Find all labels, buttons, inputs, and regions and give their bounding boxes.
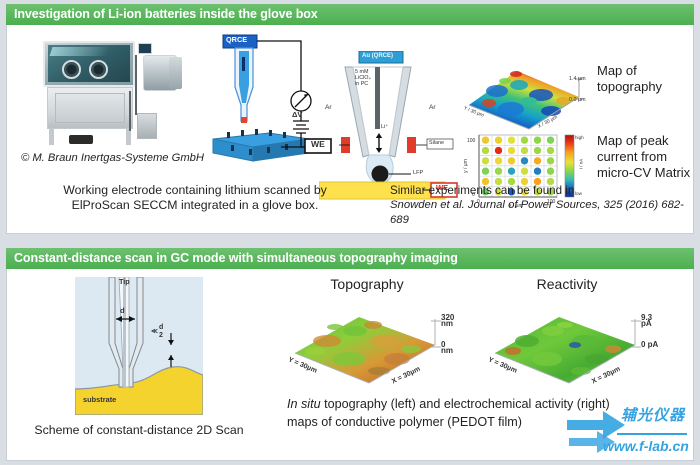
bottom-caption-line-1: In situ topography (left) and electroche… [287, 397, 610, 412]
cv-colorbar-low: low [575, 191, 582, 197]
cv-matrix-dot [495, 147, 503, 155]
qrce-label: QRCE [226, 37, 247, 43]
cv-matrix-dot [495, 136, 503, 144]
gap-prefix-label: ≪ [151, 329, 158, 335]
gap-denominator-label: 2 [159, 333, 163, 339]
delta-v-label: ΔV [292, 112, 302, 118]
cv-matrix-dot [482, 157, 490, 165]
cv-matrix-dot [495, 157, 503, 165]
bottom-caption-italic: In situ [287, 397, 321, 411]
watermark-chinese: 辅光仪器 [621, 404, 685, 425]
cv-matrix-dot [521, 136, 529, 144]
topomap-zmin: 0.0 µm [569, 97, 586, 103]
topography-map-title-2: topography [597, 79, 662, 95]
reactivity-3d-svg [489, 301, 659, 393]
seccm-svg [205, 29, 335, 179]
cv-colorbar-high: high [575, 135, 584, 141]
silane-label: Silane [429, 140, 444, 146]
seccm-schematic: QRCE ΔV WE [205, 29, 335, 179]
au-qrce-label: Au (QRCE) [362, 53, 393, 59]
cv-matrix-dot [547, 136, 555, 144]
cv-matrix-dot [521, 147, 529, 155]
reactivity-plot-title: Reactivity [497, 277, 637, 292]
ar-label-right: Ar [429, 105, 436, 111]
photo-credit: © M. Braun Inertgas-Systeme GmbH [21, 151, 204, 166]
cv-matrix-dot [547, 147, 555, 155]
licell-svg [319, 51, 459, 203]
reactivity-zmin: 0 pA [641, 342, 658, 348]
topography-surface-map: 1.4 µm 0.0 µm Y / 30 µm X / 30 µm [459, 57, 589, 135]
watermark-url: www.f-lab.cn [603, 438, 689, 454]
topography-zmax: 320 nm [441, 315, 459, 327]
watermark: 辅光仪器 www.f-lab.cn [563, 398, 691, 460]
tip-scheme-caption: Scheme of constant-distance 2D Scan [13, 423, 265, 438]
li-ion-label: Li⁺ [381, 124, 388, 130]
topography-surface-svg [459, 57, 589, 135]
slide-root: Investigation of Li-ion batteries inside… [0, 0, 700, 465]
topomap-zmax: 1.4 µm [569, 76, 586, 82]
cv-matrix-dot [508, 136, 516, 144]
cv-matrix-dot [482, 167, 490, 175]
panel-constant-distance: Constant-distance scan in GC mode with s… [6, 248, 694, 461]
cv-ytick-top: 100 [467, 138, 475, 144]
caption-left-line-1: Working electrode containing lithium sca… [25, 183, 365, 198]
bottom-caption-line-2: maps of conductive polymer (PEDOT film) [287, 415, 522, 430]
cv-matrix-dot [534, 147, 542, 155]
cv-matrix-dot [534, 157, 542, 165]
topography-plot-title: Topography [297, 277, 437, 292]
cv-matrix-dot [547, 167, 555, 175]
cv-matrix-dot [521, 167, 529, 175]
cv-matrix-dot [482, 136, 490, 144]
cv-matrix-dot [482, 147, 490, 155]
cv-matrix-dot [508, 167, 516, 175]
ar-label-left: Ar [325, 105, 332, 111]
cv-matrix-dot [534, 136, 542, 144]
lfp-label: LFP [413, 170, 423, 176]
reactivity-3d-plot: 9.3 pA 0 pA Y = 30µm X = 30µm [489, 301, 659, 393]
cv-matrix-dot [495, 167, 503, 175]
panel-constant-distance-header: Constant-distance scan in GC mode with s… [6, 248, 694, 269]
caption-right-line-2: Snowden et al. Journal of Power Sources,… [390, 198, 693, 228]
tip-scheme-diagram: Tip d ≪ d 2 substrate [75, 277, 203, 415]
cv-matrix-dot [521, 157, 529, 165]
cv-matrix-dot [547, 157, 555, 165]
cv-matrix-dot [508, 147, 516, 155]
panel-constant-distance-body: Tip d ≪ d 2 substrate Scheme of constant… [6, 269, 694, 461]
panel-investigation-header: Investigation of Li-ion batteries inside… [6, 4, 694, 25]
cv-yaxis-label: y / µm [463, 159, 469, 173]
panel-investigation-body: © M. Braun Inertgas-Systeme GmbH [6, 25, 694, 234]
caption-right-line-1: Similar experiments can be found in [390, 183, 574, 198]
gap-numerator-label: d [159, 325, 163, 331]
topography-3d-plot: 320 nm 0 nm Y = 30µm X = 30µm [289, 301, 459, 393]
tip-label: Tip [119, 279, 130, 285]
reactivity-zmax: 9.3 pA [641, 315, 659, 327]
topography-map-title-1: Map of [597, 63, 637, 79]
topography-zmin: 0 nm [441, 342, 459, 354]
electrolyte-line-3: in PC [355, 81, 368, 87]
licell-schematic: Au (QRCE) 5 mM LiClO₄ in PC Ar Ar Li⁺ Si… [319, 51, 459, 203]
cv-matrix-dot [508, 157, 516, 165]
cv-colorbar-label: I / nA [578, 159, 584, 170]
caption-left-line-2: ElProScan SECCM integrated in a glove bo… [25, 198, 365, 213]
cv-map-title-2: current from [597, 149, 667, 165]
topography-3d-svg [289, 301, 459, 393]
substrate-label: substrate [83, 397, 116, 403]
cv-map-title-1: Map of peak [597, 133, 669, 149]
tip-d-label: d [120, 308, 125, 314]
cv-map-title-3: micro-CV Matrix [597, 165, 690, 181]
glovebox-photo [25, 31, 185, 149]
panel-investigation: Investigation of Li-ion batteries inside… [6, 4, 694, 234]
cv-matrix-dot [534, 167, 542, 175]
